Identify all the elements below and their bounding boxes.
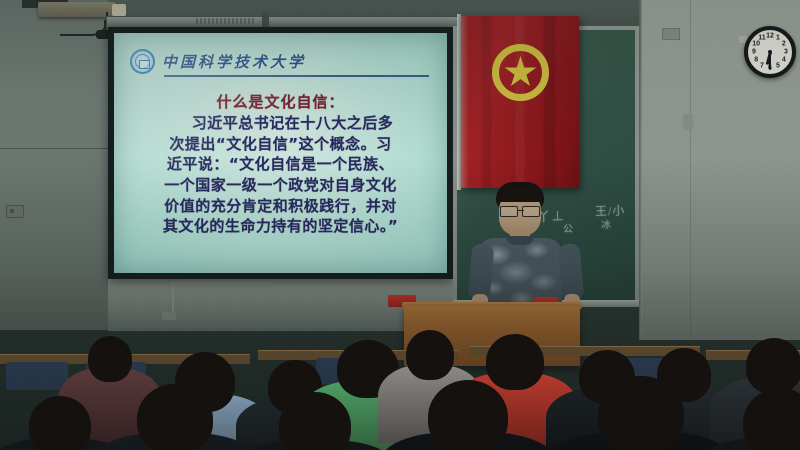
communist-youth-league-flag xyxy=(461,16,579,188)
slide-body: 习近平总书记在十八大之后多 次提出“文化自信”这个概念。习 近平说：“文化自信是… xyxy=(124,113,437,237)
glasses-bridge xyxy=(517,210,524,211)
projection-screen: 中国科学技术大学 什么是文化自信： 习近平总书记在十八大之后多 次提出“文化自信… xyxy=(114,33,447,273)
slide-institution-name: 中国科学技术大学 xyxy=(162,51,306,72)
wall-conduit-horizontal xyxy=(172,282,270,284)
wall-speaker xyxy=(683,114,693,130)
glasses-lens-left xyxy=(500,206,518,217)
slide-line: 习近平总书记在十八大之后多 xyxy=(124,113,437,134)
wall-vent xyxy=(662,28,680,40)
slide-line: 次提出“文化自信”这个概念。习 xyxy=(124,134,437,155)
clock-numeral: 1 xyxy=(776,35,780,42)
clock-numeral: 2 xyxy=(782,41,786,48)
glasses-lens-right xyxy=(522,206,540,217)
seated-audience xyxy=(0,300,800,450)
audience-head xyxy=(428,380,508,450)
clock-numeral: 9 xyxy=(752,49,756,56)
slide-line: 一个国家一级一个政党对自身文化 xyxy=(124,175,437,196)
slide-line: 其文化的生命力持有的坚定信心。” xyxy=(124,216,437,237)
audience-head xyxy=(279,392,351,450)
roller-label-strip xyxy=(196,18,254,24)
slide-header-rule xyxy=(164,75,429,77)
power-outlet[interactable] xyxy=(6,205,24,218)
speaker-eyeglasses xyxy=(499,206,541,215)
flag-hem xyxy=(461,16,467,188)
audience-head xyxy=(29,396,91,450)
audience-head xyxy=(88,336,132,382)
clock-numeral: 7 xyxy=(760,62,764,69)
roller-bracket xyxy=(262,12,269,28)
slide-line: 价值的充分肯定和积极践行，并对 xyxy=(124,196,437,217)
clock-numeral: 8 xyxy=(754,57,758,64)
audience-head xyxy=(598,376,684,450)
speaker-fringe xyxy=(497,186,543,202)
clock-numeral: 12 xyxy=(766,33,774,40)
slide-line: 近平说：“文化自信是一个民族、 xyxy=(124,154,437,175)
clock-numeral: 4 xyxy=(782,57,786,64)
speaker-at-podium xyxy=(466,182,586,312)
left-wall xyxy=(0,0,108,330)
audience-head xyxy=(746,338,800,394)
person-front-far-right xyxy=(700,388,800,450)
slide-header: 中国科学技术大学 xyxy=(128,45,437,79)
person-front-navy xyxy=(92,384,258,450)
slide-title: 什么是文化自信： xyxy=(114,91,447,112)
wall-corner-edge xyxy=(639,0,642,340)
wall-seam xyxy=(0,148,108,149)
wall-corner-line xyxy=(690,0,691,340)
chalk-note: 冰 xyxy=(601,216,613,231)
clock-minute-hand xyxy=(769,52,771,70)
clock-numeral: 3 xyxy=(784,49,788,56)
audience-head xyxy=(743,388,800,450)
person-front-center xyxy=(380,380,556,450)
clock-center-pin xyxy=(768,50,772,54)
ustc-emblem-icon xyxy=(130,49,155,74)
person-front-mid xyxy=(236,392,394,450)
speaker-arm-right xyxy=(558,243,585,301)
wall-clock: 121234567891011 xyxy=(744,26,796,78)
clock-numeral: 11 xyxy=(758,35,765,42)
projector-lens xyxy=(112,4,126,16)
audience-head xyxy=(137,384,213,450)
lecture-hall-photo: 中国科学技术大学 什么是文化自信： 习近平总书记在十八大之后多 次提出“文化自信… xyxy=(0,0,800,450)
clock-numeral: 5 xyxy=(776,62,780,69)
projection-screen-frame: 中国科学技术大学 什么是文化自信： 习近平总书记在十八大之后多 次提出“文化自信… xyxy=(108,27,453,279)
flag-folds xyxy=(461,16,579,188)
audience-head xyxy=(406,330,454,380)
